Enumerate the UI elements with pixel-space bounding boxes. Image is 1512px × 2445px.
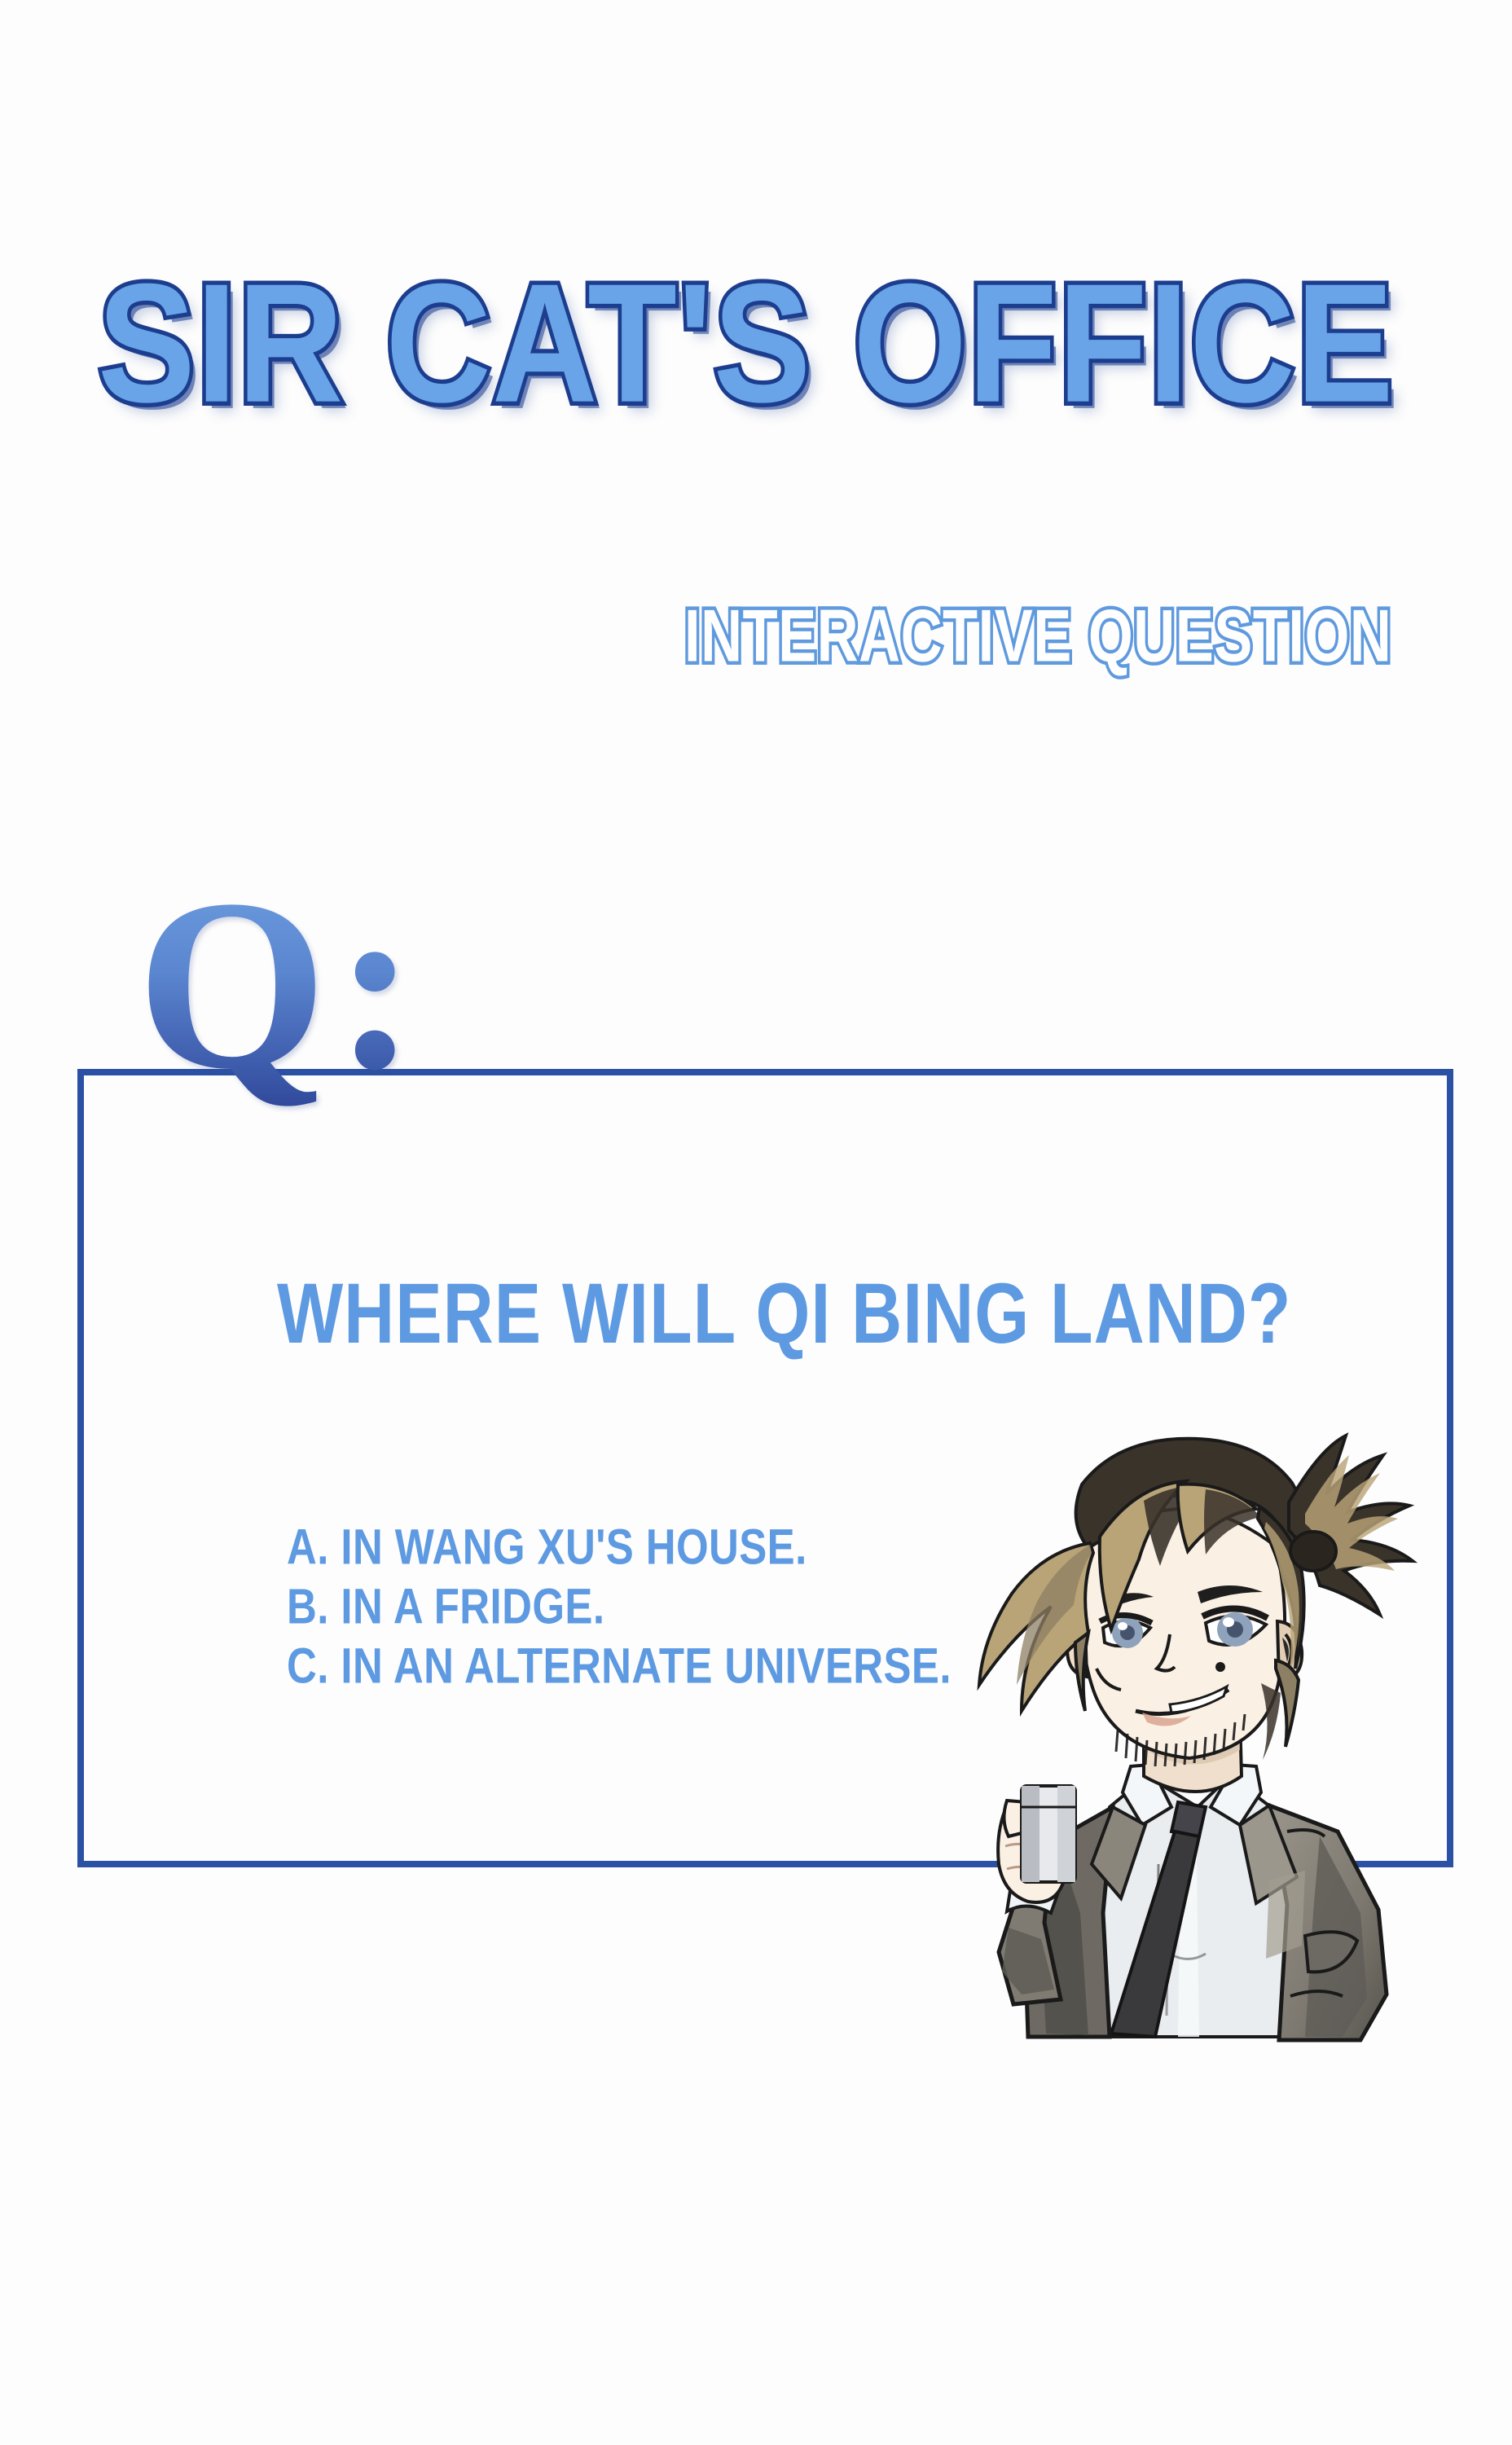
answer-option-a[interactable]: A. IN WANG XU'S HOUSE. xyxy=(287,1522,952,1572)
answer-option-b[interactable]: B. IN A FRIDGE. xyxy=(287,1581,952,1631)
character-torso xyxy=(1025,1765,1387,2040)
character-svg xyxy=(937,1424,1458,2060)
answer-option-list: A. IN WANG XU'S HOUSE. B. IN A FRIDGE. C… xyxy=(287,1522,952,1700)
character-illustration xyxy=(937,1424,1458,2060)
answer-option-c[interactable]: C. IN AN ALTERNATE UNIVERSE. xyxy=(287,1641,952,1691)
page-title-text: SIR CAT'S OFFICE xyxy=(98,259,1261,429)
comic-panel: SIR CAT'S OFFICE INTERACTIVE QUESTION Q:… xyxy=(0,0,1512,2445)
subtitle-text: INTERACTIVE QUESTION xyxy=(684,600,1466,674)
question-prefix-label: Q: xyxy=(137,862,424,1106)
page-title: SIR CAT'S OFFICE xyxy=(98,259,1238,422)
subtitle: INTERACTIVE QUESTION xyxy=(684,600,1483,689)
question-headline: WHERE WILL QI BING LAND? xyxy=(277,1271,1291,1357)
